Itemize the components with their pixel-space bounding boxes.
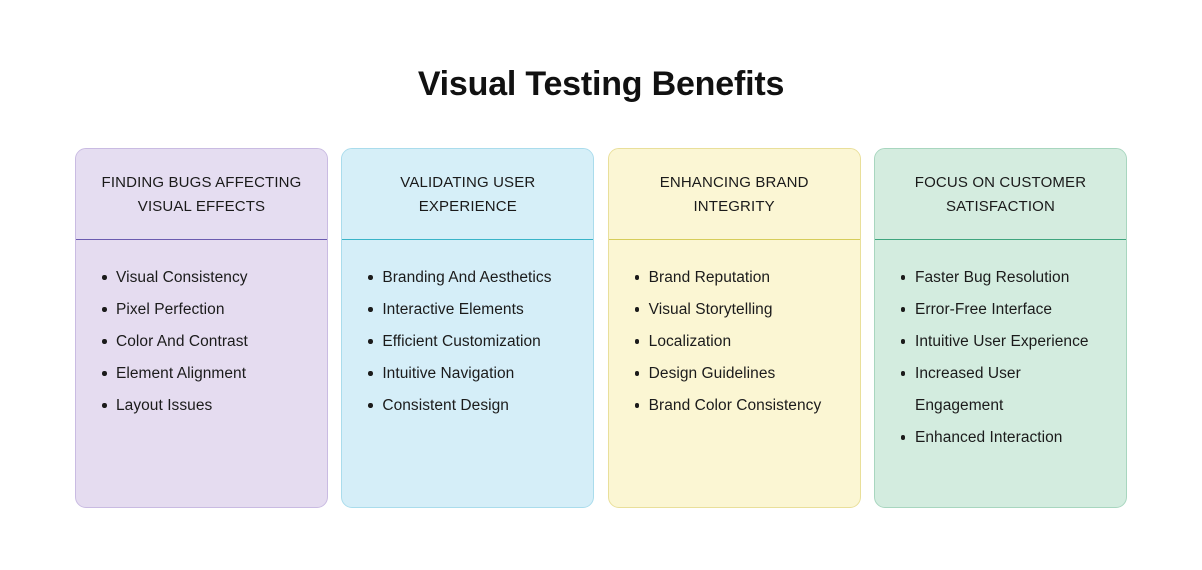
bullet-icon [368, 403, 373, 408]
list-item: Enhanced Interaction [915, 422, 1112, 454]
card-body: Brand Reputation Visual Storytelling Loc… [609, 240, 860, 507]
bullet-icon [368, 371, 373, 376]
benefit-card-finding-bugs-affecting-visual-effects: FINDING BUGS AFFECTING VISUAL EFFECTS Vi… [75, 148, 328, 508]
list-item: Brand Reputation [649, 262, 846, 294]
list-item-label: Error-Free Interface [915, 301, 1052, 318]
list-item-label: Visual Storytelling [649, 301, 773, 318]
card-body: Faster Bug Resolution Error-Free Interfa… [875, 240, 1126, 507]
card-header: FINDING BUGS AFFECTING VISUAL EFFECTS [76, 149, 327, 240]
bullet-icon [102, 275, 107, 280]
list-item-label: Layout Issues [116, 397, 212, 414]
list-item: Pixel Perfection [116, 294, 313, 326]
list-item: Visual Storytelling [649, 294, 846, 326]
card-header: VALIDATING USER EXPERIENCE [342, 149, 593, 240]
list-item-label: Enhanced Interaction [915, 429, 1063, 446]
bullet-icon [102, 339, 107, 344]
card-header: FOCUS ON CUSTOMER SATISFACTION [875, 149, 1126, 240]
list-item: Increased User Engagement [915, 358, 1112, 422]
bullet-icon [635, 403, 640, 408]
list-item-label: Design Guidelines [649, 365, 776, 382]
list-item-label: Element Alignment [116, 365, 246, 382]
list-item-label: Interactive Elements [382, 301, 523, 318]
benefit-card-focus-on-customer-satisfaction: FOCUS ON CUSTOMER SATISFACTION Faster Bu… [874, 148, 1127, 508]
card-header-label: FINDING BUGS AFFECTING VISUAL EFFECTS [92, 171, 311, 219]
list-item: Color And Contrast [116, 326, 313, 358]
card-list: Branding And Aesthetics Interactive Elem… [356, 262, 579, 422]
card-list: Visual Consistency Pixel Perfection Colo… [90, 262, 313, 422]
bullet-icon [102, 307, 107, 312]
bullet-icon [901, 435, 906, 440]
list-item: Brand Color Consistency [649, 390, 846, 422]
bullet-icon [635, 371, 640, 376]
bullet-icon [901, 275, 906, 280]
list-item-label: Visual Consistency [116, 269, 248, 286]
card-list: Faster Bug Resolution Error-Free Interfa… [889, 262, 1112, 454]
list-item-label: Consistent Design [382, 397, 509, 414]
card-header-label: VALIDATING USER EXPERIENCE [358, 171, 577, 219]
list-item: Element Alignment [116, 358, 313, 390]
list-item: Layout Issues [116, 390, 313, 422]
list-item: Design Guidelines [649, 358, 846, 390]
bullet-icon [901, 371, 906, 376]
bullet-icon [368, 275, 373, 280]
infographic-page: Visual Testing Benefits FINDING BUGS AFF… [0, 0, 1202, 570]
bullet-icon [368, 307, 373, 312]
benefit-card-enhancing-brand-integrity: ENHANCING BRAND INTEGRITY Brand Reputati… [608, 148, 861, 508]
bullet-icon [635, 307, 640, 312]
card-header: ENHANCING BRAND INTEGRITY [609, 149, 860, 240]
card-header-label: FOCUS ON CUSTOMER SATISFACTION [891, 171, 1110, 219]
bullet-icon [102, 371, 107, 376]
card-header-label: ENHANCING BRAND INTEGRITY [625, 171, 844, 219]
list-item-label: Brand Reputation [649, 269, 770, 286]
bullet-icon [635, 339, 640, 344]
bullet-icon [901, 339, 906, 344]
list-item-label: Intuitive Navigation [382, 365, 514, 382]
bullet-icon [635, 275, 640, 280]
list-item-label: Faster Bug Resolution [915, 269, 1069, 286]
list-item-label: Branding And Aesthetics [382, 269, 551, 286]
list-item: Faster Bug Resolution [915, 262, 1112, 294]
list-item: Efficient Customization [382, 326, 579, 358]
list-item: Branding And Aesthetics [382, 262, 579, 294]
list-item: Localization [649, 326, 846, 358]
benefit-card-validating-user-experience: VALIDATING USER EXPERIENCE Branding And … [341, 148, 594, 508]
list-item: Intuitive Navigation [382, 358, 579, 390]
list-item: Error-Free Interface [915, 294, 1112, 326]
list-item: Consistent Design [382, 390, 579, 422]
page-title: Visual Testing Benefits [0, 61, 1202, 107]
list-item-label: Efficient Customization [382, 333, 541, 350]
list-item-label: Localization [649, 333, 731, 350]
card-body: Visual Consistency Pixel Perfection Colo… [76, 240, 327, 507]
list-item: Interactive Elements [382, 294, 579, 326]
bullet-icon [901, 307, 906, 312]
list-item-label: Brand Color Consistency [649, 397, 822, 414]
benefit-cards-row: FINDING BUGS AFFECTING VISUAL EFFECTS Vi… [75, 148, 1127, 508]
list-item: Visual Consistency [116, 262, 313, 294]
card-list: Brand Reputation Visual Storytelling Loc… [623, 262, 846, 422]
bullet-icon [368, 339, 373, 344]
list-item: Intuitive User Experience [915, 326, 1112, 358]
card-body: Branding And Aesthetics Interactive Elem… [342, 240, 593, 507]
list-item-label: Pixel Perfection [116, 301, 225, 318]
list-item-label: Increased User Engagement [915, 365, 1021, 414]
list-item-label: Color And Contrast [116, 333, 248, 350]
bullet-icon [102, 403, 107, 408]
list-item-label: Intuitive User Experience [915, 333, 1089, 350]
